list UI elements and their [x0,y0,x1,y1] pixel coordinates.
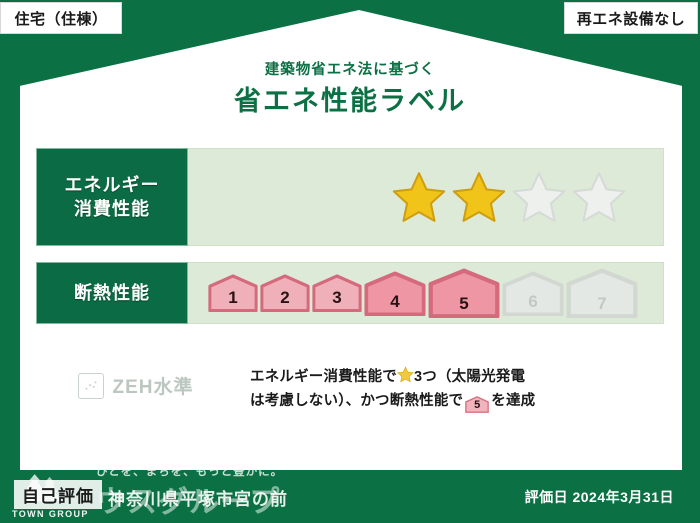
insulation-grade-value: 3 [332,288,341,308]
energy-label-line2: 消費性能 [74,197,150,221]
note-line2-suffix: を達成 [491,393,535,409]
zeh-note-area: ZEH水準 エネルギー消費性能で 3つ（太陽光発電 は考慮しない）、かつ断熱性能… [36,366,664,413]
insulation-performance-row: 断熱性能 1234567 [36,262,664,324]
star-icon-filled [391,170,447,224]
energy-label-line1: エネルギー [65,173,160,197]
energy-star-rating [188,148,664,246]
insulation-grade-scale: 1234567 [188,262,664,324]
inline-insulation-chip: 5 [465,396,489,413]
inline-chip-value: 5 [465,396,489,414]
insulation-grade-chip: 7 [566,268,638,318]
self-evaluation-badge: 自己評価 [14,480,102,509]
insulation-grade-value: 6 [528,292,537,312]
achievement-note: エネルギー消費性能で 3つ（太陽光発電 は考慮しない）、かつ断熱性能で 5 を達… [250,366,664,413]
evaluation-date: 評価日 2024年3月31日 [525,487,674,507]
insulation-grade-chip: 2 [260,274,310,312]
insulation-grade-chip: 4 [364,271,426,316]
label-subtitle: 建築物省エネ法に基づく [0,62,700,79]
inline-star-icon [397,366,414,390]
insulation-grade-value: 2 [280,288,289,308]
insulation-grade-chip: 1 [208,274,258,312]
insulation-grade-chip: 3 [312,274,362,312]
insulation-label-text: 断熱性能 [74,281,150,305]
renewable-energy-tag: 再エネ設備なし [564,2,698,34]
insulation-grade-value: 1 [228,288,237,308]
energy-performance-row: エネルギー 消費性能 [36,148,664,246]
energy-performance-label: エネルギー 消費性能 [36,148,188,246]
note-line1-prefix: エネルギー消費性能で [250,369,397,385]
building-type-tag: 住宅（住棟） [0,2,122,34]
note-line2-prefix: は考慮しない）、かつ断熱性能で [250,393,463,409]
star-icon-empty [571,170,627,224]
zeh-standard-block: ZEH水準 [36,366,236,399]
insulation-grade-value: 7 [597,294,606,314]
insulation-grade-value: 5 [459,294,468,314]
title-block: 建築物省エネ法に基づく 省エネ性能ラベル [0,62,700,118]
star-icon-filled [451,170,507,224]
footer-bar: 評価日 2024年3月31日 [0,470,700,523]
note-line1-suffix: 3つ（太陽光発電 [414,369,525,385]
zeh-standard-label: ZEH水準 [112,372,193,399]
insulation-grade-chip: 5 [428,268,500,318]
zeh-square-icon [78,373,104,399]
insulation-grade-value: 4 [390,292,399,312]
star-icon-empty [511,170,567,224]
label-main-title: 省エネ性能ラベル [0,85,700,117]
insulation-grade-chip: 6 [502,271,564,316]
insulation-performance-label: 断熱性能 [36,262,188,324]
